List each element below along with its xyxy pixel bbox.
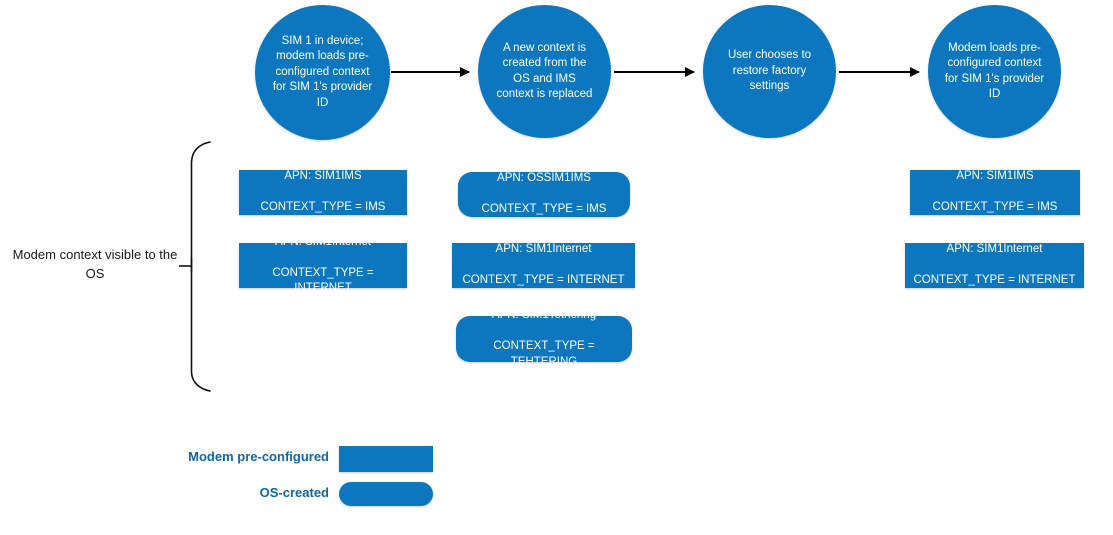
side-label: Modem context visible to the OS xyxy=(6,245,184,283)
context-apn: APN: SIM1IMS xyxy=(261,169,386,185)
process-circle-1[interactable]: SIM 1 in device; modem loads pre-configu… xyxy=(255,5,390,140)
context-box-col4-internet[interactable]: APN: SIM1Internet CONTEXT_TYPE = INTERNE… xyxy=(905,243,1084,288)
context-box-col2-ims[interactable]: APN: OSSIM1IMS CONTEXT_TYPE = IMS xyxy=(458,172,630,217)
legend-swatch-modem-preconfigured xyxy=(339,446,433,472)
context-apn: APN: OSSIM1IMS xyxy=(482,171,607,187)
context-box-col1-ims[interactable]: APN: SIM1IMS CONTEXT_TYPE = IMS xyxy=(239,170,407,215)
context-type: CONTEXT_TYPE = TEHTERING xyxy=(460,339,628,370)
context-box-col2-tethering[interactable]: APN: SIM1Tethering CONTEXT_TYPE = TEHTER… xyxy=(456,316,632,362)
arrow-step3-to-step4 xyxy=(839,71,919,73)
diagram-canvas: SIM 1 in device; modem loads pre-configu… xyxy=(0,0,1113,535)
process-circle-3[interactable]: User chooses to restore factory settings xyxy=(703,5,836,138)
legend-label-os-created: OS-created xyxy=(129,485,329,500)
context-box-col1-internet[interactable]: APN: SIM1Internet CONTEXT_TYPE = INTERNE… xyxy=(239,243,407,288)
context-type: CONTEXT_TYPE = INTERNET xyxy=(463,273,625,289)
context-box-col4-ims[interactable]: APN: SIM1IMS CONTEXT_TYPE = IMS xyxy=(910,170,1080,215)
arrow-step1-to-step2 xyxy=(391,71,469,73)
legend-swatch-os-created xyxy=(339,482,433,506)
context-type: CONTEXT_TYPE = IMS xyxy=(482,202,607,218)
context-type: CONTEXT_TYPE = INTERNET xyxy=(243,266,403,297)
legend-label-modem-preconfigured: Modem pre-configured xyxy=(129,449,329,464)
process-circle-2-label: A new context is created from the OS and… xyxy=(494,41,595,103)
process-circle-4[interactable]: Modem loads pre-configured context for S… xyxy=(928,5,1061,138)
context-apn: APN: SIM1Tethering xyxy=(460,308,628,324)
process-circle-3-label: User chooses to restore factory settings xyxy=(719,48,820,95)
context-box-col2-internet[interactable]: APN: SIM1Internet CONTEXT_TYPE = INTERNE… xyxy=(452,243,635,288)
context-type: CONTEXT_TYPE = IMS xyxy=(933,200,1058,216)
context-apn: APN: SIM1Internet xyxy=(463,242,625,258)
side-label-text: Modem context visible to the OS xyxy=(13,247,178,281)
context-apn: APN: SIM1Internet xyxy=(243,235,403,251)
arrow-step2-to-step3 xyxy=(614,71,694,73)
process-circle-1-label: SIM 1 in device; modem loads pre-configu… xyxy=(271,34,374,112)
context-type: CONTEXT_TYPE = IMS xyxy=(261,200,386,216)
process-circle-2[interactable]: A new context is created from the OS and… xyxy=(478,5,611,138)
context-apn: APN: SIM1IMS xyxy=(933,169,1058,185)
context-apn: APN: SIM1Internet xyxy=(914,242,1076,258)
context-type: CONTEXT_TYPE = INTERNET xyxy=(914,273,1076,289)
process-circle-4-label: Modem loads pre-configured context for S… xyxy=(944,41,1045,103)
grouping-brace xyxy=(178,140,218,392)
